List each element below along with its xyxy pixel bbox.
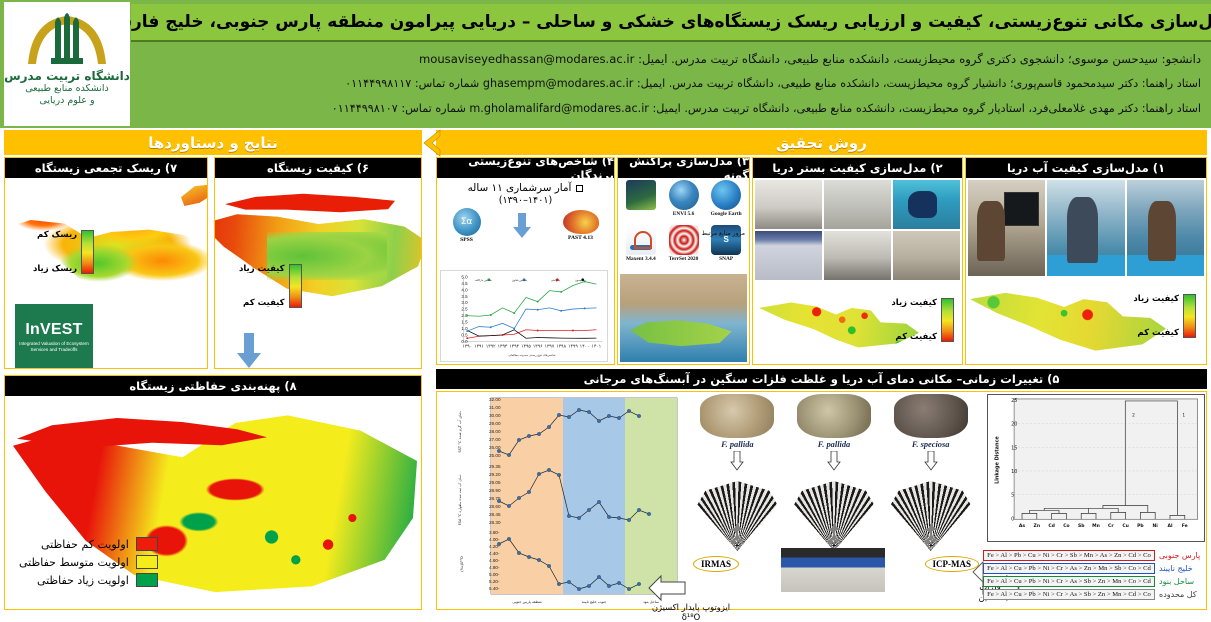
svg-text:Mn: Mn [1092,523,1100,529]
photo-diver-sampling [893,180,960,229]
water-quality-legend: کیفیت زیاد کیفیت کم [1133,294,1196,338]
svg-text:Linkage Distance: Linkage Distance [994,436,1000,484]
zoning-label-high: اولویت زیاد حفاظتی [37,574,129,587]
panel-sea-water-quality: ۱) مدل‌سازی کیفیت آب دریا [965,157,1207,365]
bird-diversity-chart: 0.00.51.0 1.52.02.5 3.03.54.0 4.55.0 شاخ… [440,270,608,362]
svg-text:32.00: 32.00 [489,397,501,402]
rank-region-4: کل محدوده [1159,590,1205,599]
metal-ranking-table: پارس جنوبی Fe > Al > Pb > Cu > Ni > Cr >… [983,550,1205,600]
svg-text:-4.40: -4.40 [489,551,500,556]
svg-text:۱۳۹۸: ۱۳۹۸ [556,343,566,348]
coral-specimen: F. pallida [791,394,877,551]
coral-xray-slab-2 [794,481,874,551]
section-5-body: 32.0031.0030.00 29.0028.0027.00 26.0025.… [436,391,1207,610]
quality-legend-gradient [289,264,302,308]
svg-text:دمای آب ثبت شده ماهواره ESA °C: دمای آب ثبت شده ماهواره ESA °C [458,474,462,525]
panel-2-title: ۲) مدل‌سازی کیفیت بستر دریا [753,158,962,178]
poster-header: مدل‌سازی مکانی تنوع‌زیستی، کیفیت و ارزیا… [0,0,1211,128]
svg-text:Co: Co [1063,523,1069,529]
svg-text:5: 5 [1011,493,1014,499]
svg-text:۱۳۹۲: ۱۳۹۲ [486,343,496,348]
tarbiat-modares-emblem-icon [22,4,112,68]
svg-text:25: 25 [1011,398,1017,404]
coral-specimen: F. pallida [694,394,780,551]
svg-text:1.5: 1.5 [461,320,468,325]
zoning-legend-item: اولویت زیاد حفاظتی [19,573,158,587]
invest-logo: InVEST Integrated Valuation of Ecosystem… [15,304,93,368]
section-5-title-bar: ۵) تغییرات زمانی– مکانی دمای آب دریا و غ… [436,369,1207,389]
photo-lab-analysis [968,180,1045,276]
bed-quality-legend: کیفیت زیاد کیفیت کم [891,298,954,342]
svg-text:28.60: 28.60 [489,504,501,509]
svg-text:۱۳۹۳: ۱۳۹۳ [498,343,508,348]
svg-text:یکنواختی: یکنواختی [551,279,561,282]
panel-species-distribution: ۳) مدل‌سازی پراکنش گونه Google Earth ENV… [617,157,750,365]
svg-text:4.5: 4.5 [461,281,468,286]
table-row: ساحل بنود Fe > Al > Cu > Pb > Ni > Cr > … [983,576,1205,587]
census-heading: آمار سرشماری ۱۱ ساله (۱۴۰۱–۱۳۹۰) [437,178,614,206]
panel-3-title: ۳) مدل‌سازی پراکنش گونه [618,158,749,178]
rank-region-1: پارس جنوبی [1159,551,1205,560]
software-item: TerrSet 2020 [663,225,705,269]
heavy-metal-dendrogram: 252015 1050 Linkage Distance [987,394,1205,542]
svg-text:۱۳۹۴: ۱۳۹۴ [509,343,519,348]
risk-raster-islet [181,184,207,206]
svg-text:29.20: 29.20 [489,472,501,477]
svg-text:28.45: 28.45 [489,512,501,517]
coral-name-2: F. pallida [791,440,877,449]
author-line-supervisor-1: استاد راهنما: دکتر سیدمحمود قاسم‌پوری؛ د… [141,77,1201,91]
study-area-satellite-map [620,274,747,362]
svg-text:Cd: Cd [1048,523,1055,529]
band-label-method: روش تحقیق [776,134,867,152]
panel-4-title: ۴) شاخص‌های تنوع‌زیستی پرندگان [437,158,614,178]
svg-text:Sb: Sb [1078,523,1085,529]
photo-sample-tubes [755,231,822,280]
svg-text:-5.00: -5.00 [489,572,500,577]
results-column: ۷) ریسک تجمعی زیستگاه ریسک کم ریسک زیاد … [4,157,422,610]
instrument-flow: IRMAS ICP-MAS ایزوتوپ پایدار اکسیژن δ¹⁸O… [689,546,979,608]
zoning-swatch-high [136,573,158,587]
software-item: ENVI 5.6 [663,180,705,224]
svg-text:Ni: Ni [1153,523,1159,529]
photo-water-sampler [1127,180,1204,276]
author-block: دانشجو: سیدحسن موسوی؛ دانشجوی دکتری گروه… [135,44,1207,124]
poster-root: مدل‌سازی مکانی تنوع‌زیستی، کیفیت و ارزیا… [0,0,1211,614]
svg-text:Al: Al [1167,523,1172,529]
invest-logo-name: InVEST [25,321,82,339]
software-item: . [620,180,662,224]
page-title: مدل‌سازی مکانی تنوع‌زیستی، کیفیت و ارزیا… [109,12,1211,32]
down-arrow-icon [827,451,841,471]
zoning-map: اولویت کم حفاظتی اولویت متوسط حفاظتی اول… [5,396,421,609]
risk-map: ریسک کم ریسک زیاد InVEST Integrated Valu… [5,178,207,368]
water-quality-high-label: کیفیت زیاد [1133,294,1179,304]
panel-bird-biodiversity: ۴) شاخص‌های تنوع‌زیستی پرندگان آمار سرشم… [436,157,615,365]
bed-quality-high-label: کیفیت زیاد [891,298,937,308]
svg-text:Pb: Pb [1137,523,1144,529]
instrument-tag-irmas: IRMAS [693,556,739,572]
zoning-swatch-medium [136,555,158,569]
quality-legend-high-label: کیفیت زیاد [239,264,285,274]
rank-order-4: Fe > Al > Cu > Pb > Ni > Cr > As > Sb > … [983,589,1155,600]
census-heading-line2: (۱۴۰۱–۱۳۹۰) [437,195,614,206]
java-icon [626,225,656,255]
svg-text:31.00: 31.00 [489,405,501,410]
down-arrow-icon [924,451,938,471]
rank-region-3: ساحل بنود [1159,577,1205,586]
svg-text:منطقه پارس جنوبی: منطقه پارس جنوبی [512,600,541,604]
svg-text:۱۳۹۰: ۱۳۹۰ [462,343,472,348]
down-arrow-icon [730,451,744,471]
rank-order-3: Fe > Al > Cu > Pb > Ni > Cr > As > Sb > … [983,576,1155,587]
panel-cumulative-risk: ۷) ریسک تجمعی زیستگاه ریسک کم ریسک زیاد … [4,157,208,369]
svg-text:10: 10 [1011,469,1017,475]
analysis-tools: PAST 4.13 Σα SPSS [437,208,614,243]
envi-icon [669,180,699,210]
arrow-left-icon [647,574,687,602]
coral-analysis-zone: F. speciosa F. pallida F. pallida [689,394,979,608]
svg-text:30.00: 30.00 [489,413,501,418]
svg-text:۱۳۹۷: ۱۳۹۷ [545,343,555,348]
spss-icon: Σα [453,208,481,236]
panel-8-title: ۸) پهنه‌بندی حفاظتی زیستگاه [5,376,421,396]
bed-quality-legend-gradient [941,298,954,342]
software-name-snap: SNAP [719,256,733,262]
svg-text:27.00: 27.00 [489,437,501,442]
quality-raster-low-band [225,192,395,214]
software-name-maxent: Maxent 3.4.4 [626,256,656,262]
section-5-title: ۵) تغییرات زمانی– مکانی دمای آب دریا و غ… [584,372,1060,386]
svg-text:5.0: 5.0 [461,274,468,279]
tool-item-spss: Σα SPSS [453,208,481,243]
flow-arrow-left-small-icon [971,560,985,584]
svg-text:2: 2 [1132,413,1135,419]
flow-arrow-down-icon [512,213,532,239]
coral-specimen: F. speciosa [888,394,974,551]
photo-drying-oven [755,180,822,229]
tool-name-spss: SPSS [453,237,481,243]
svg-text:1: 1 [1182,413,1185,419]
svg-text:Cr: Cr [1108,523,1114,529]
svg-text:جنوب خلیج نایبند: جنوب خلیج نایبند [582,600,607,604]
snap-icon: S [711,225,741,255]
svg-text:۱۳۹۹: ۱۳۹۹ [568,343,578,348]
coral-xray-slab-3 [697,481,777,551]
author-line-supervisor-2: استاد راهنما: دکتر مهدی غلامعلی‌فرد، است… [141,102,1201,116]
svg-text:29.00: 29.00 [489,421,501,426]
panel-sea-bed-quality: ۲) مدل‌سازی کیفیت بستر دریا ک [752,157,963,365]
svg-text:29.35: 29.35 [489,464,501,469]
svg-text:28.90: 28.90 [489,488,501,493]
university-logo: دانشگاه تربیت مدرس دانشکده منابع طبیعی و… [4,2,130,126]
panel-7-title: ۷) ریسک تجمعی زیستگاه [5,158,207,178]
zoning-label-low: اولویت کم حفاظتی [41,538,129,551]
method-panel-row: ۱) مدل‌سازی کیفیت آب دریا [436,157,1207,365]
svg-text:-4.60: -4.60 [489,558,500,563]
svg-text:-5.40: -5.40 [489,586,500,591]
zoning-swatch-low [136,537,158,551]
svg-text:As: As [1019,523,1025,529]
software-name-terrset: TerrSet 2020 [669,256,699,262]
svg-text:-3.80: -3.80 [489,530,500,535]
flow-arrow-left-icon [420,128,442,158]
rank-order-1: Fe > Al > Pb > Cu > Ni > Cr > Sb > Mn > … [983,550,1155,561]
quality-legend-low-label: کیفیت کم [239,298,285,308]
svg-text:3.0: 3.0 [461,300,468,305]
zoning-label-medium: اولویت متوسط حفاظتی [19,556,129,569]
flow-arrow-down-icon [236,333,262,369]
poster-title-bar: مدل‌سازی مکانی تنوع‌زیستی، کیفیت و ارزیا… [131,4,1211,42]
coral-name-1: F. speciosa [888,440,974,449]
section-band-results: نتایج و دستاوردها [4,130,422,155]
coral-name-3: F. pallida [694,440,780,449]
panel-3-note: مرور منابع مرتبط [701,230,745,237]
tool-item-past: PAST 4.13 [563,210,599,241]
risk-legend-high-label: ریسک کم [33,230,77,240]
photo-mortar-pestle [893,231,960,280]
zoning-legend-item: اولویت کم حفاظتی [19,537,158,551]
bullet-checkbox-icon [576,185,583,192]
svg-text:-5.20: -5.20 [489,579,500,584]
svg-text:25.00: 25.00 [489,453,501,458]
rank-region-2: خلیج نایبند [1159,564,1205,573]
coral-photo-f-speciosa [894,394,968,438]
water-quality-legend-gradient [1183,294,1196,338]
svg-text:شاخص شانون: شاخص شانون [512,279,527,282]
author-line-student: دانشجو: سیدحسن موسوی؛ دانشجوی دکتری گروه… [141,52,1201,66]
logo-faculty-line2: و علوم دریایی [39,95,94,107]
coral-photo-f-pallida-1 [797,394,871,438]
software-item: Google Earth [705,180,747,224]
photo-sample-bags [824,180,891,229]
svg-text:شاخص مارگالف: شاخص مارگالف [475,278,492,282]
svg-text:Zn: Zn [1034,523,1041,529]
svg-text:۱۳۹۱: ۱۳۹۱ [474,343,484,348]
shell-icon [563,210,599,234]
table-row: خلیج نایبند Fe > Al > Cu > Pb > Ni > Cr … [983,563,1205,574]
svg-text:۱۴۰۰: ۱۴۰۰ [580,343,590,348]
svg-text:-4.80: -4.80 [489,565,500,570]
svg-text:0.5: 0.5 [461,333,468,338]
software-item: Maxent 3.4.4 [620,225,662,269]
risk-legend: ریسک کم ریسک زیاد [33,230,94,274]
census-heading-line1: آمار سرشماری ۱۱ ساله [437,182,614,194]
software-logo-grid: Google Earth ENVI 5.6 . S SNAP [618,178,749,270]
svg-text:3.5: 3.5 [461,294,468,299]
zoning-legend-item: اولویت متوسط حفاظتی [19,555,158,569]
svg-text:۱۳۹۶: ۱۳۹۶ [533,343,543,348]
photo-sieve-balance [824,231,891,280]
bed-quality-low-label: کیفیت کم [891,332,937,342]
panel-conservation-zoning: ۸) پهنه‌بندی حفاظتی زیستگاه اولویت کم حف… [4,375,422,610]
svg-text:δ¹⁸O(‰): δ¹⁸O(‰) [460,556,464,572]
coral-photo-f-pallida-2 [700,394,774,438]
svg-text:15: 15 [1011,445,1017,451]
google-earth-icon [711,180,741,210]
table-row: کل محدوده Fe > Al > Cu > Pb > Ni > Cr > … [983,589,1205,600]
svg-text:۱۳۹۵: ۱۳۹۵ [521,343,531,348]
coral-specimen-row: F. speciosa F. pallida F. pallida [689,394,979,551]
svg-text:28.30: 28.30 [489,520,501,525]
panel-1-title: ۱) مدل‌سازی کیفیت آب دریا [966,158,1206,178]
caption-isotope: ایزوتوپ پایدار اکسیژن δ¹⁸O [645,602,737,622]
svg-text:Cu: Cu [1122,523,1129,529]
table-row: پارس جنوبی Fe > Al > Pb > Cu > Ni > Cr >… [983,550,1205,561]
zoning-legend: اولویت کم حفاظتی اولویت متوسط حفاظتی اول… [19,537,158,591]
risk-legend-low-label: ریسک زیاد [33,264,77,274]
svg-text:2.5: 2.5 [461,307,468,312]
svg-text:-4.00: -4.00 [489,537,500,542]
quality-legend: کیفیت زیاد کیفیت کم [239,264,302,308]
terrset-icon [669,225,699,255]
software-name-envi: ENVI 5.6 [673,211,695,217]
water-sampling-photos [966,178,1206,278]
svg-text:Fe: Fe [1182,523,1188,529]
logo-university-name: دانشگاه تربیت مدرس [4,69,130,83]
rank-order-2: Fe > Al > Cu > Pb > Ni > Cr > As > Zn > … [983,563,1155,574]
study-area-island-polygon [630,320,732,346]
coral-xray-slab-1 [891,481,971,551]
section-band-method: روش تحقیق [436,130,1207,155]
study-area-thumb-icon [626,180,656,210]
risk-legend-gradient [81,230,94,274]
method-column: ۱) مدل‌سازی کیفیت آب دریا [436,157,1207,610]
invest-logo-tagline: Integrated Valuation of Ecosystem Servic… [17,341,91,353]
heavy-metal-cluster-zone: 252015 1050 Linkage Distance [983,394,1205,608]
svg-text:۱۴۰۱: ۱۴۰۱ [592,343,602,348]
logo-faculty-line1: دانشکده منابع طبیعی [25,83,109,95]
svg-text:4.0: 4.0 [461,287,468,292]
panel-6-title: ۶) کیفیت زیستگاه [215,158,421,178]
svg-text:20: 20 [1011,422,1017,428]
svg-text:29.05: 29.05 [489,480,501,485]
bird-chart-xlabel: شاخص‌های تنوع زیستی محدوده مطالعاتی [508,353,556,357]
band-label-results: نتایج و دستاوردها [148,134,278,152]
software-name-google-earth: Google Earth [711,211,742,217]
svg-text:دمای آب گرم شده SST °C: دمای آب گرم شده SST °C [457,411,463,453]
sample-vials-photo [781,548,885,592]
svg-text:28.00: 28.00 [489,429,501,434]
water-quality-low-label: کیفیت کم [1133,328,1179,338]
tool-name-past: PAST 4.13 [563,235,599,241]
sediment-sampling-photos [753,178,962,282]
svg-text:0: 0 [1011,516,1014,522]
photo-secchi-disk [1047,180,1124,276]
